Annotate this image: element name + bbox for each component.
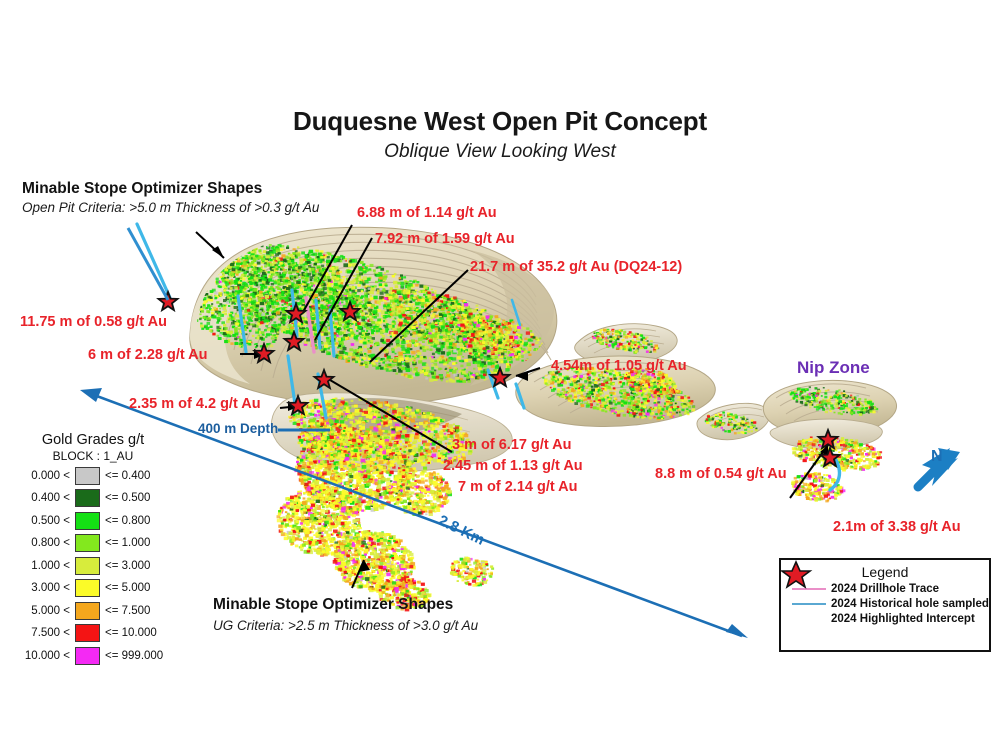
grade-lower-bound: 0.400 < [18,492,70,504]
grade-color-swatch [75,557,100,575]
grade-legend-row: 5.000 <<= 7.500 [18,601,178,621]
grade-upper-bound: <= 5.000 [105,582,150,594]
legend-title: Legend [781,564,989,580]
satellite-lens-right [697,403,770,439]
page-subtitle: Oblique View Looking West [0,141,1000,163]
grade-legend-row: 0.500 <<= 0.800 [18,511,178,531]
grade-lower-bound: 0.500 < [18,515,70,527]
map-legend-box: Legend 2024 Drillhole Trace2024 Historic… [779,558,991,652]
grade-legend-title: Gold Grades g/t [18,432,168,448]
grade-lower-bound: 1.000 < [18,560,70,572]
grade-color-swatch [75,467,100,485]
grade-color-swatch [75,512,100,530]
grade-color-swatch [75,489,100,507]
grade-upper-bound: <= 999.000 [105,650,163,662]
intercept-label-2: 7.92 m of 1.59 g/t Au [375,231,515,247]
grade-upper-bound: <= 10.000 [105,627,157,639]
grade-lower-bound: 5.000 < [18,605,70,617]
grade-upper-bound: <= 0.800 [105,515,150,527]
grade-legend-row: 0.400 <<= 0.500 [18,488,178,508]
grade-legend-subtitle: BLOCK : 1_AU [18,449,168,463]
intercept-label-12: 2.1m of 3.38 g/t Au [833,519,961,535]
grade-color-swatch [75,647,100,665]
grade-legend-row: 0.800 <<= 1.000 [18,533,178,553]
intercept-label-11: 8.8 m of 0.54 g/t Au [655,466,787,482]
depth-label: 400 m Depth [198,421,278,436]
grade-legend-row: 10.000 <<= 999.000 [18,646,178,666]
grade-color-swatch [75,602,100,620]
figure-canvas: Duquesne West Open Pit Concept Oblique V… [0,0,1000,750]
underground-callout-criteria: UG Criteria: >2.5 m Thickness of >3.0 g/… [213,618,478,633]
gold-grade-legend: Gold Grades g/t BLOCK : 1_AU 0.000 <<= 0… [18,432,178,666]
grade-legend-row: 3.000 <<= 5.000 [18,578,178,598]
legend-line-swatch [787,603,831,606]
legend-item-label: 2024 Drillhole Trace [831,583,939,595]
grade-upper-bound: <= 0.500 [105,492,150,504]
intercept-label-4: 11.75 m of 0.58 g/t Au [20,314,167,330]
intercept-label-5: 6 m of 2.28 g/t Au [88,347,208,363]
grade-lower-bound: 0.800 < [18,537,70,549]
legend-line-swatch [787,588,831,591]
grade-lower-bound: 0.000 < [18,470,70,482]
legend-item-label: 2024 Historical hole sampled [831,598,989,610]
grade-lower-bound: 7.500 < [18,627,70,639]
page-title: Duquesne West Open Pit Concept [0,106,1000,137]
open-pit-callout-title: Minable Stope Optimizer Shapes [22,180,262,198]
intercept-label-3: 21.7 m of 35.2 g/t Au (DQ24-12) [470,259,682,275]
view-direction-arrow [128,228,168,300]
grade-color-swatch [75,624,100,642]
intercept-star-icon [159,292,178,310]
grade-legend-row: 7.500 <<= 10.000 [18,623,178,643]
grade-legend-row: 0.000 <<= 0.400 [18,466,178,486]
intercept-label-7: 4.54m of 1.05 g/t Au [551,358,687,374]
grade-upper-bound: <= 0.400 [105,470,150,482]
grade-upper-bound: <= 1.000 [105,537,150,549]
legend-item-label: 2024 Highlighted Intercept [831,613,975,625]
open-pit-callout-criteria: Open Pit Criteria: >5.0 m Thickness of >… [22,200,319,215]
intercept-label-8: 3 m of 6.17 g/t Au [452,437,572,453]
legend-row: 2024 Drillhole Trace [781,583,989,595]
grade-color-swatch [75,534,100,552]
north-label: N [931,448,943,466]
grade-upper-bound: <= 7.500 [105,605,150,617]
underground-callout-title: Minable Stope Optimizer Shapes [213,596,453,614]
intercept-label-10: 7 m of 2.14 g/t Au [458,479,578,495]
grade-upper-bound: <= 3.000 [105,560,150,572]
intercept-label-1: 6.88 m of 1.14 g/t Au [357,205,497,221]
grade-color-swatch [75,579,100,597]
nip-zone-label: Nip Zone [797,358,870,378]
grade-lower-bound: 10.000 < [18,650,70,662]
legend-row: 2024 Highlighted Intercept [781,613,989,625]
intercept-label-6: 2.35 m of 4.2 g/t Au [129,396,261,412]
grade-lower-bound: 3.000 < [18,582,70,594]
intercept-label-9: 2.45 m of 1.13 g/t Au [443,458,583,474]
legend-row: 2024 Historical hole sampled [781,598,989,610]
grade-legend-row: 1.000 <<= 3.000 [18,556,178,576]
